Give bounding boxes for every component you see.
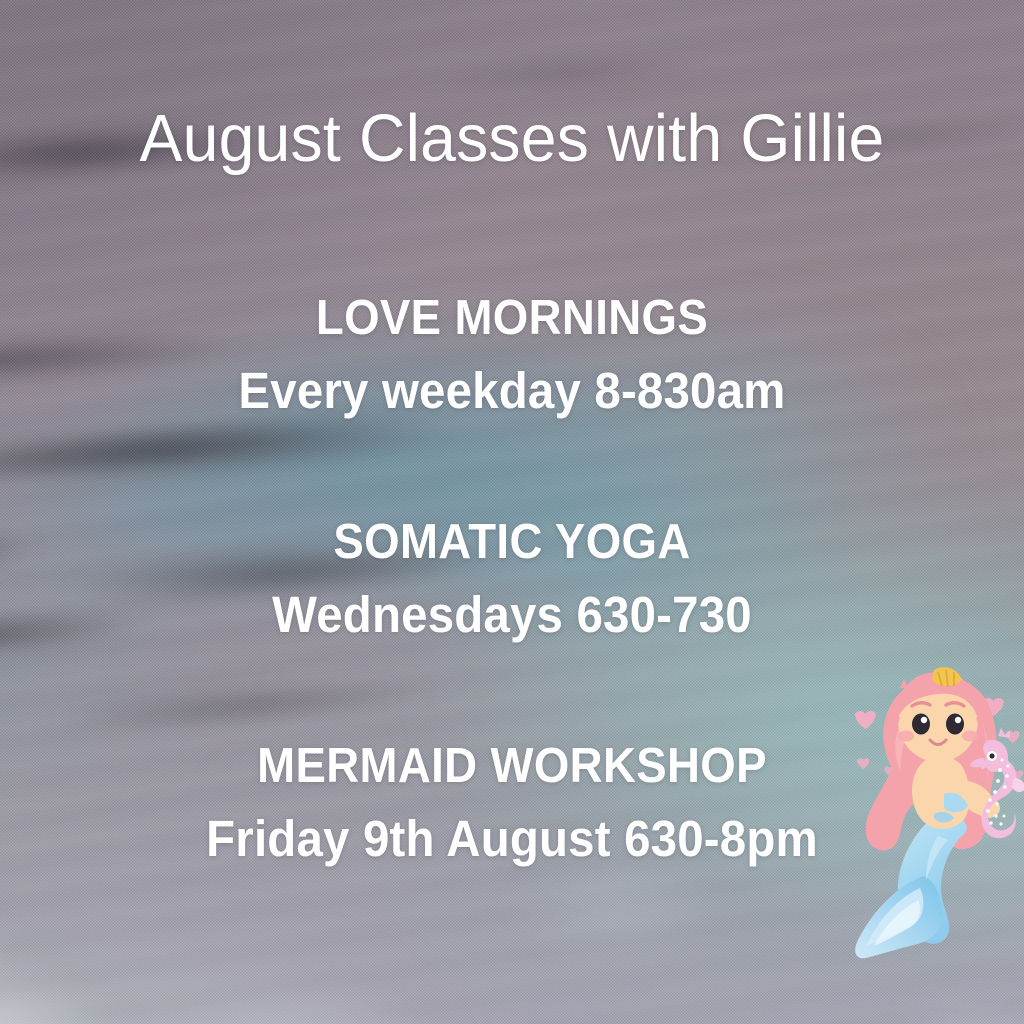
page-title: August Classes with Gillie [20,104,1003,174]
class-heading: SOMATIC YOGA [36,518,988,567]
poster-canvas: August Classes with Gillie LOVE MORNINGS… [0,0,1024,1024]
heart-icon [855,711,876,729]
class-heading: LOVE MORNINGS [36,294,988,343]
class-schedule: Wednesdays 630-730 [36,589,988,640]
mermaid-sticker [838,648,1024,964]
mermaid-eye [912,714,930,735]
class-block-somatic-yoga: SOMATIC YOGA Wednesdays 630-730 [0,518,1024,640]
class-block-love-mornings: LOVE MORNINGS Every weekday 8-830am [0,294,1024,416]
heart-icon [857,758,869,769]
class-schedule: Every weekday 8-830am [36,365,988,416]
mermaid-eye [946,714,964,735]
